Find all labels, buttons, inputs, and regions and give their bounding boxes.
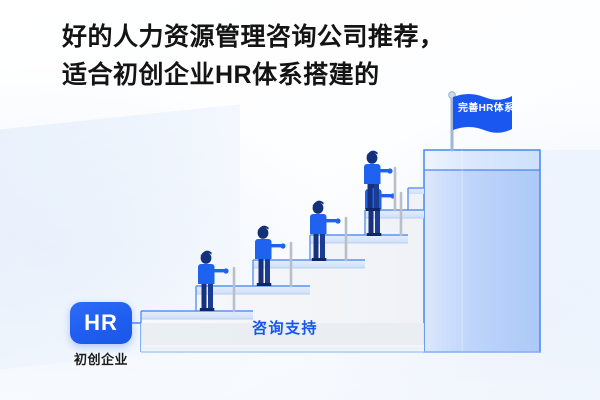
step-caption: 咨询支持 (252, 317, 318, 338)
goal-flag: 完善HR体系 (446, 92, 546, 154)
goal-platform (424, 150, 540, 352)
start-badge-group: HR 初创企业 (56, 302, 146, 368)
hr-badge: HR (70, 302, 132, 344)
illustration-canvas: 好的人力资源管理咨询公司推荐， 适合初创企业HR体系搭建的 (0, 0, 600, 400)
start-badge-caption: 初创企业 (56, 349, 146, 368)
goal-flag-label: 完善HR体系 (458, 99, 514, 114)
person-figure (364, 151, 393, 211)
